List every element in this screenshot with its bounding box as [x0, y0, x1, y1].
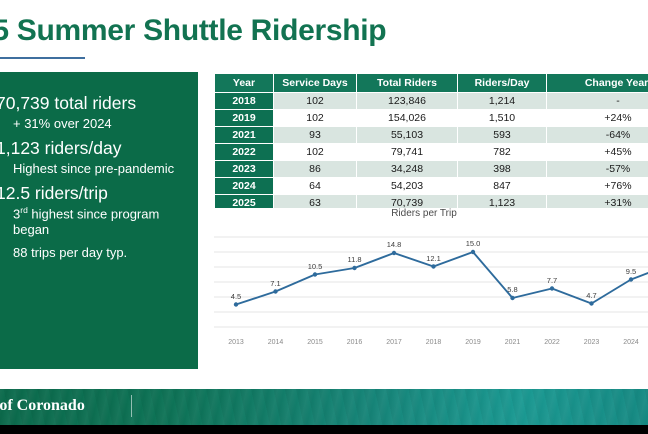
highlight-riders-per-day-sub: Highest since pre-pandemic — [13, 161, 188, 176]
chart-point-label: 14.8 — [387, 240, 402, 249]
page-title: 25 Summer Shuttle Ridership — [0, 14, 386, 48]
chart-x-tick: 2014 — [268, 339, 284, 346]
col-header-total-riders: Total Riders — [357, 74, 457, 92]
cell-service-days: 102 — [274, 93, 356, 109]
cell-change: - — [547, 93, 648, 109]
chart-point-label: 15.0 — [466, 239, 481, 248]
highlight-total-riders: 70,739 total riders — [0, 94, 188, 114]
table-row: 2018 102 123,846 1,214 - — [215, 93, 648, 109]
ridership-table: Year Service Days Total Riders Riders/Da… — [214, 73, 648, 212]
cell-total-riders: 123,846 — [357, 93, 457, 109]
chart-point-label: 9.5 — [626, 267, 636, 276]
cell-service-days: 102 — [274, 110, 356, 126]
footer-city-label: ty of Coronado — [0, 397, 85, 415]
col-header-riders-day: Riders/Day — [458, 74, 546, 92]
cell-year: 2019 — [215, 110, 273, 126]
cell-service-days: 86 — [274, 161, 356, 177]
table-row: 2024 64 54,203 847 +76% — [215, 178, 648, 194]
chart-point-label: 4.7 — [586, 291, 596, 300]
chart-x-tick: 2015 — [307, 339, 323, 346]
cell-service-days: 64 — [274, 178, 356, 194]
cell-total-riders: 55,103 — [357, 127, 457, 143]
table-row: 2023 86 34,248 398 -57% — [215, 161, 648, 177]
col-header-service-days: Service Days — [274, 74, 356, 92]
highlights-panel: 70,739 total riders + 31% over 2024 1,12… — [0, 72, 198, 369]
bottom-black-bar — [0, 425, 648, 434]
chart-x-tick: 2016 — [347, 339, 363, 346]
chart-point-label: 11.8 — [347, 255, 361, 264]
cell-change: -57% — [547, 161, 648, 177]
chart-x-tick: 2024 — [623, 339, 639, 346]
highlight-trips-per-day: 88 trips per day typ. — [13, 245, 188, 260]
cell-change: +45% — [547, 144, 648, 160]
title-underline — [0, 57, 85, 59]
chart-x-tick: 2021 — [505, 339, 521, 346]
chart-point-label: 7.7 — [547, 276, 557, 285]
cell-year: 2021 — [215, 127, 273, 143]
chart-point-label: 4.5 — [231, 292, 241, 301]
cell-change: +24% — [547, 110, 648, 126]
cell-change: +76% — [547, 178, 648, 194]
chart-x-tick: 2017 — [386, 339, 402, 346]
chart-x-tick: 2023 — [584, 339, 600, 346]
chart-x-tick: 2019 — [465, 339, 481, 346]
cell-year: 2022 — [215, 144, 273, 160]
col-header-change: Change Year/ — [547, 74, 648, 92]
cell-riders-day: 593 — [458, 127, 546, 143]
riders-per-trip-chart: Riders per Trip 201320142015201620172018… — [214, 208, 648, 360]
highlight-total-riders-sub: + 31% over 2024 — [13, 116, 188, 131]
ridership-table-container: Year Service Days Total Riders Riders/Da… — [214, 73, 648, 212]
slide-root: 25 Summer Shuttle Ridership 70,739 total… — [0, 0, 648, 434]
highlight-riders-per-day: 1,123 riders/day — [0, 139, 188, 159]
table-row: 2021 93 55,103 593 -64% — [215, 127, 648, 143]
highlight-riders-per-trip-sub: 3rd highest since program began — [13, 205, 188, 237]
cell-total-riders: 79,741 — [357, 144, 457, 160]
cell-riders-day: 847 — [458, 178, 546, 194]
table-row: 2019 102 154,026 1,510 +24% — [215, 110, 648, 126]
cell-year: 2023 — [215, 161, 273, 177]
table-header-row: Year Service Days Total Riders Riders/Da… — [215, 74, 648, 92]
ordinal-rest: highest since program began — [13, 207, 159, 237]
col-header-year: Year — [215, 74, 273, 92]
chart-point-label: 12.1 — [426, 254, 441, 263]
cell-service-days: 93 — [274, 127, 356, 143]
cell-riders-day: 1,510 — [458, 110, 546, 126]
chart-point-label: 7.1 — [270, 279, 280, 288]
table-row: 2022 102 79,741 782 +45% — [215, 144, 648, 160]
chart-point-label: 5.8 — [507, 285, 517, 294]
cell-total-riders: 34,248 — [357, 161, 457, 177]
footer-water-texture — [0, 389, 648, 425]
cell-service-days: 102 — [274, 144, 356, 160]
chart-x-tick: 2013 — [228, 339, 244, 346]
chart-x-tick: 2018 — [426, 339, 442, 346]
cell-riders-day: 398 — [458, 161, 546, 177]
cell-total-riders: 154,026 — [357, 110, 457, 126]
cell-change: -64% — [547, 127, 648, 143]
footer-divider — [131, 395, 132, 417]
chart-x-axis: 2013201420152016201720182019202120222023… — [214, 339, 648, 353]
highlight-riders-per-trip: 12.5 riders/trip — [0, 184, 188, 204]
cell-year: 2024 — [215, 178, 273, 194]
footer-banner: ty of Coronado — [0, 389, 648, 425]
chart-point-label: 10.5 — [308, 262, 323, 271]
chart-x-tick: 2022 — [544, 339, 560, 346]
cell-riders-day: 1,214 — [458, 93, 546, 109]
table-head: Year Service Days Total Riders Riders/Da… — [215, 74, 648, 92]
cell-riders-day: 782 — [458, 144, 546, 160]
chart-title: Riders per Trip — [214, 208, 634, 219]
ordinal-suffix: rd — [20, 205, 28, 215]
cell-total-riders: 54,203 — [357, 178, 457, 194]
table-body: 2018 102 123,846 1,214 - 2019 102 154,02… — [215, 93, 648, 211]
cell-year: 2018 — [215, 93, 273, 109]
